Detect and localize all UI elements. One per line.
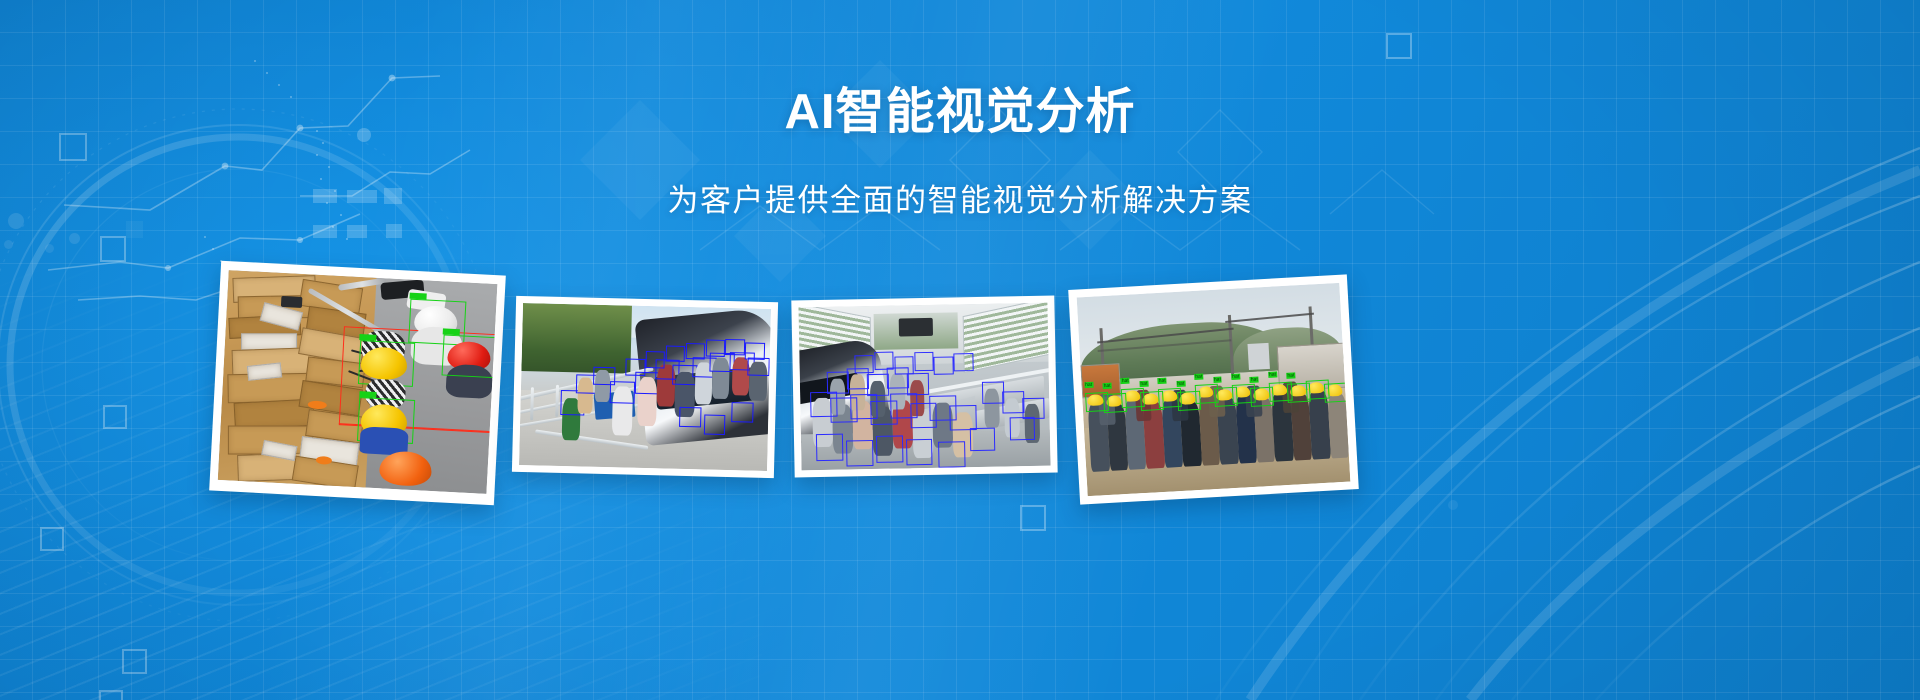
detection-label-hat: hat <box>1213 376 1222 382</box>
detection-box-green <box>441 334 496 379</box>
gallery-card-bridge-crowd-face-detection[interactable] <box>512 296 778 478</box>
detection-label-hat: hat <box>1158 377 1167 383</box>
ai-vision-banner: AI智能视觉分析 为客户提供全面的智能视觉分析解决方案 <box>0 0 1920 700</box>
photo-station-crowd-density <box>798 303 1050 471</box>
detection-label-hat: hat <box>1268 371 1277 377</box>
detection-label-hat: hat <box>1176 380 1185 386</box>
photo-gallery: hat hat hat hat hat hat hat hat <box>0 0 1920 700</box>
detection-label-hat: hat <box>1250 376 1259 382</box>
photo-bridge-crowd-face-detection <box>519 303 771 471</box>
detection-label-hat: hat <box>1139 380 1148 386</box>
detection-label-hat: hat <box>1121 377 1130 383</box>
detection-box-hat <box>1324 382 1348 403</box>
photo-warehouse-helmet-detection <box>218 270 498 494</box>
detection-label-hat: hat <box>1194 373 1203 379</box>
gallery-card-outdoor-group-hat-detection[interactable]: hat hat hat hat hat hat hat hat <box>1068 274 1359 504</box>
gallery-card-warehouse-helmet-detection[interactable] <box>209 261 506 506</box>
gallery-card-station-crowd-density[interactable] <box>791 295 1057 477</box>
detection-label-hat: hat <box>1231 373 1240 379</box>
detection-label-hat: hat <box>1102 382 1111 388</box>
detection-label-hat: hat <box>1286 372 1295 378</box>
detection-label-hat: hat <box>1084 381 1093 387</box>
photo-outdoor-group-hat-detection: hat hat hat hat hat hat hat hat <box>1077 283 1351 496</box>
